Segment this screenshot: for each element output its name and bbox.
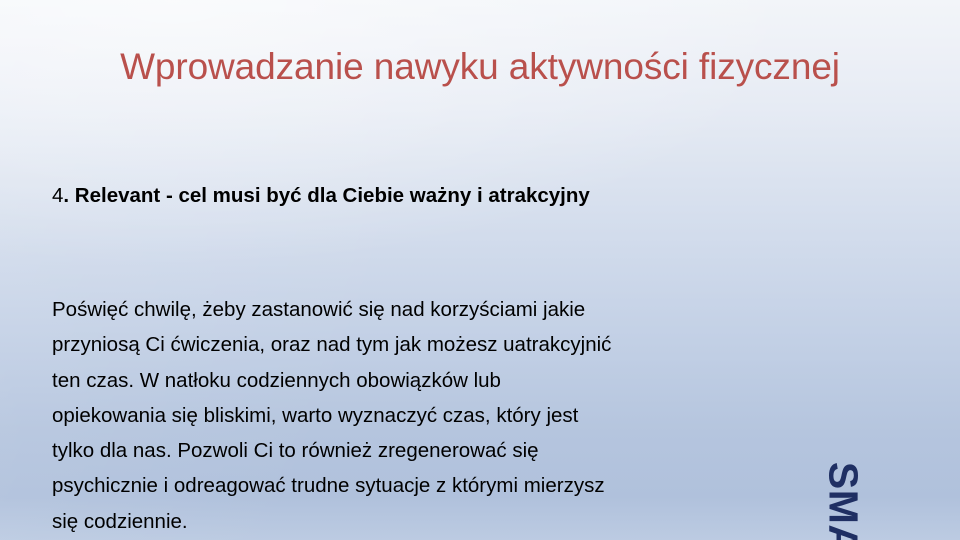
section-heading-number: 4 xyxy=(52,184,63,207)
body-line: Poświęć chwilę, żeby zastanowić się nad … xyxy=(52,292,792,327)
slide-canvas: Wprowadzanie nawyku aktywności fizycznej… xyxy=(0,0,960,540)
body-line: przyniosą Ci ćwiczenia, oraz nad tym jak… xyxy=(52,327,792,362)
smart-sidemark: SMART xyxy=(788,441,898,540)
body-line: ten czas. W natłoku codziennych obowiązk… xyxy=(52,363,792,398)
slide-title: Wprowadzanie nawyku aktywności fizycznej xyxy=(0,44,960,90)
section-heading-text: . Relevant - cel musi być dla Ciebie waż… xyxy=(63,184,589,207)
smart-letters-sma: SMA xyxy=(821,462,867,540)
smart-sidemark-text: SMART xyxy=(821,462,866,540)
body-line: tylko dla nas. Pozwoli Ci to również zre… xyxy=(52,433,792,468)
body-paragraph: Poświęć chwilę, żeby zastanowić się nad … xyxy=(52,292,792,539)
body-line: się codziennie. xyxy=(52,504,792,539)
section-heading: 4. Relevant - cel musi być dla Ciebie wa… xyxy=(52,182,960,210)
body-line: psychicznie i odreagować trudne sytuacje… xyxy=(52,468,792,503)
body-line: opiekowania się bliskimi, warto wyznaczy… xyxy=(52,398,792,433)
